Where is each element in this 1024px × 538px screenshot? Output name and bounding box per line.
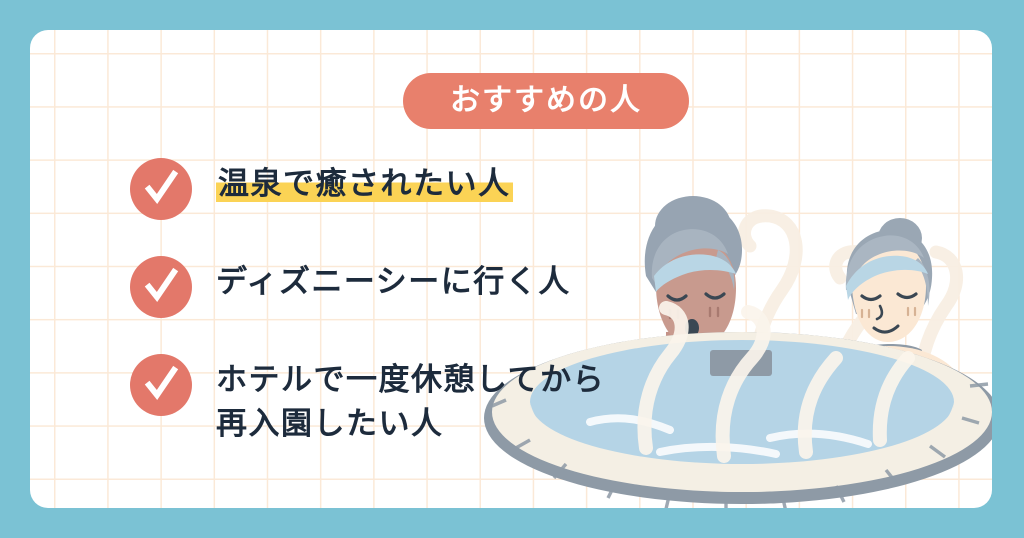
list-item-text: ディズニーシーに行く人 [216,256,571,304]
section-title-text: おすすめの人 [450,86,642,116]
list-item-text: ホテルで一度休憩してから 再入園したい人 [216,354,605,446]
highlighted-text: 温泉で癒されたい人 [216,166,513,202]
check-circle-icon [130,158,192,220]
list-item: ホテルで一度休憩してから 再入園したい人 [130,354,830,446]
recommendation-checklist: 温泉で癒されたい人 ディズニーシーに行く人 [130,158,830,446]
screenshot-canvas: おすすめの人 温泉で癒されたい人 [0,0,1024,538]
list-item-text: 温泉で癒されたい人 [216,158,513,206]
check-circle-icon [130,256,192,318]
content-card: おすすめの人 温泉で癒されたい人 [30,30,992,508]
list-item: ディズニーシーに行く人 [130,256,830,318]
section-title-pill: おすすめの人 [403,73,689,129]
list-item: 温泉で癒されたい人 [130,158,830,220]
check-circle-icon [130,354,192,416]
